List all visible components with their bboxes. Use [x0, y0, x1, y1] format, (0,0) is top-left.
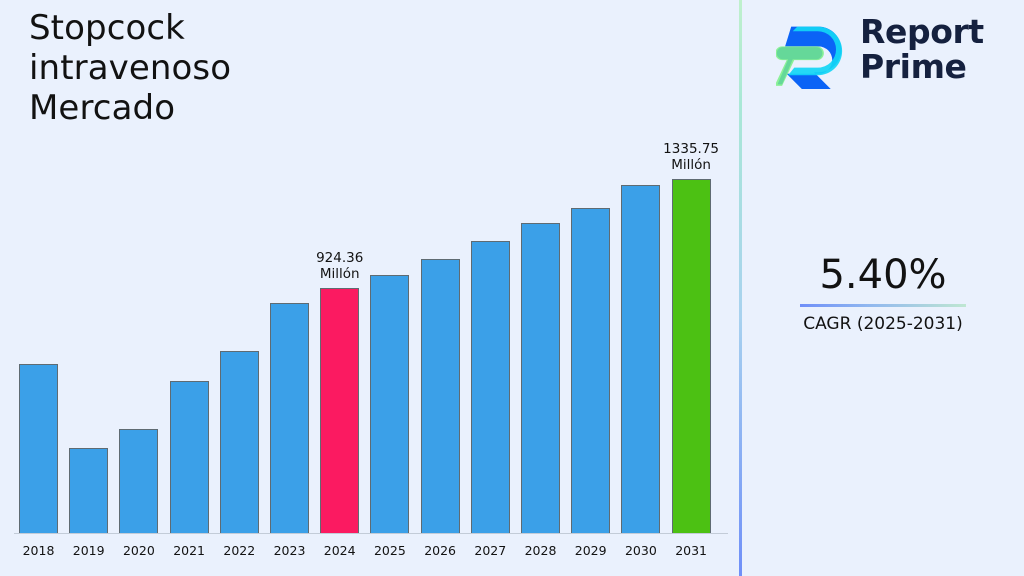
- bar-2026[interactable]: [421, 0, 460, 534]
- bar-2025[interactable]: [370, 0, 409, 534]
- bar-value-label-2031: 1335.75 Millón: [663, 141, 719, 173]
- x-tick-2028: 2028: [515, 543, 566, 558]
- x-tick-2027: 2027: [465, 543, 516, 558]
- bar-rect-2030[interactable]: [621, 185, 660, 534]
- bar-rect-2019[interactable]: [69, 448, 108, 534]
- bar-2028[interactable]: [521, 0, 560, 534]
- x-tick-2029: 2029: [565, 543, 616, 558]
- chart-panel: Stopcock intravenoso Mercado 924.36 Mill…: [0, 0, 739, 576]
- bar-2020[interactable]: [119, 0, 158, 534]
- bar-2023[interactable]: [270, 0, 309, 534]
- x-axis-tick-labels: 2018201920202021202220232024202520262027…: [0, 534, 739, 576]
- bar-rect-2025[interactable]: [370, 275, 409, 534]
- cagr-block: 5.40% CAGR (2025-2031): [742, 252, 1024, 335]
- bar-chart-plot: 924.36 Millón1335.75 Millón: [0, 0, 739, 534]
- cagr-divider: [800, 304, 966, 307]
- x-tick-2024: 2024: [314, 543, 365, 558]
- bar-rect-2018[interactable]: [19, 364, 58, 534]
- report-prime-logo-icon: [776, 16, 852, 92]
- bar-rect-2031[interactable]: [672, 179, 711, 534]
- bar-rect-2020[interactable]: [119, 429, 158, 534]
- x-tick-2023: 2023: [264, 543, 315, 558]
- bar-rect-2024[interactable]: [320, 288, 359, 534]
- chart-page: Stopcock intravenoso Mercado 924.36 Mill…: [0, 0, 1024, 576]
- bar-2018[interactable]: [19, 0, 58, 534]
- brand-logo: Report Prime: [776, 12, 1016, 94]
- bar-2027[interactable]: [471, 0, 510, 534]
- bar-2021[interactable]: [170, 0, 209, 534]
- x-tick-2020: 2020: [113, 543, 164, 558]
- bar-value-label-2024: 924.36 Millón: [316, 250, 363, 282]
- x-tick-2021: 2021: [164, 543, 215, 558]
- x-tick-2031: 2031: [666, 543, 717, 558]
- bar-rect-2026[interactable]: [421, 259, 460, 534]
- bar-rect-2023[interactable]: [270, 303, 309, 534]
- x-tick-2022: 2022: [214, 543, 265, 558]
- bar-2019[interactable]: [69, 0, 108, 534]
- bar-2030[interactable]: [621, 0, 660, 534]
- x-tick-2026: 2026: [415, 543, 466, 558]
- cagr-value: 5.40%: [742, 252, 1024, 298]
- bar-2024[interactable]: 924.36 Millón: [320, 0, 359, 534]
- x-tick-2019: 2019: [63, 543, 114, 558]
- bar-rect-2028[interactable]: [521, 223, 560, 534]
- bar-rect-2029[interactable]: [571, 208, 610, 534]
- bar-rect-2022[interactable]: [220, 351, 259, 534]
- bar-2029[interactable]: [571, 0, 610, 534]
- bar-2031[interactable]: 1335.75 Millón: [672, 0, 711, 534]
- bar-rect-2027[interactable]: [471, 241, 510, 534]
- brand-panel: Report Prime 5.40% CAGR (2025-2031): [742, 0, 1024, 576]
- x-tick-2018: 2018: [13, 543, 64, 558]
- cagr-caption: CAGR (2025-2031): [742, 313, 1024, 335]
- brand-name: Report Prime: [860, 14, 984, 84]
- x-tick-2030: 2030: [615, 543, 666, 558]
- bar-2022[interactable]: [220, 0, 259, 534]
- bar-rect-2021[interactable]: [170, 381, 209, 534]
- x-tick-2025: 2025: [364, 543, 415, 558]
